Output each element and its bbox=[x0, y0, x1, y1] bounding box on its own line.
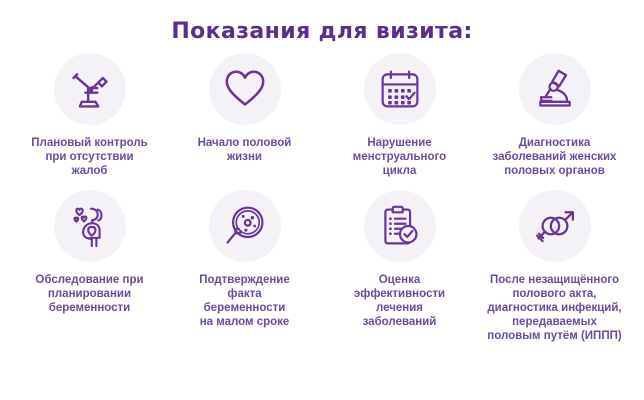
indication-label: Плановый контроль при отсутствии жалоб bbox=[31, 136, 147, 178]
indication-item-pregnancy-planning: Обследование при планировании беременнос… bbox=[12, 190, 167, 343]
indications-grid: Плановый контроль при отсутствии жалоб Н… bbox=[0, 47, 644, 343]
page-title: Показания для визита: bbox=[0, 0, 644, 47]
indication-item-routine-checkup: Плановый контроль при отсутствии жалоб bbox=[12, 53, 167, 178]
indication-label: Оценка эффективности лечения заболеваний bbox=[354, 273, 445, 329]
indication-item-pregnancy-confirmation: Подтверждение факта берeменности на мало… bbox=[167, 190, 322, 343]
pregnant-woman-icon bbox=[54, 190, 126, 262]
indication-item-sexual-debut: Начало половой жизни bbox=[167, 53, 322, 178]
indication-item-sti-screening: После незащищённого полового акта, диагн… bbox=[477, 190, 632, 343]
clipboard-check-icon bbox=[364, 190, 436, 262]
indication-label: Подтверждение факта берeменности на мало… bbox=[199, 273, 290, 329]
indications-row: Обследование при планировании беременнос… bbox=[12, 190, 632, 343]
indication-label: Начало половой жизни bbox=[198, 136, 292, 164]
indication-label: Диагностика заболеваний женских половых … bbox=[493, 136, 617, 178]
indication-label: Нарушение менструального цикла bbox=[353, 136, 446, 178]
indication-item-treatment-efficacy: Оценка эффективности лечения заболеваний bbox=[322, 190, 477, 343]
gynecological-chair-icon bbox=[54, 53, 126, 125]
calendar-icon bbox=[364, 53, 436, 125]
indications-infographic: Показания для визита: bbox=[0, 0, 644, 400]
indications-row: Плановый контроль при отсутствии жалоб Н… bbox=[12, 53, 632, 178]
indication-item-diagnostics: Диагностика заболеваний женских половых … bbox=[477, 53, 632, 178]
indication-label: После незащищённого полового акта, диагн… bbox=[487, 273, 621, 343]
indication-label: Обследование при планировании беременнос… bbox=[35, 273, 143, 315]
indication-item-cycle-disorder: Нарушение менструального цикла bbox=[322, 53, 477, 178]
microscope-icon bbox=[519, 53, 591, 125]
fertilization-icon bbox=[209, 190, 281, 262]
gender-symbols-icon bbox=[519, 190, 591, 262]
heart-icon bbox=[209, 53, 281, 125]
